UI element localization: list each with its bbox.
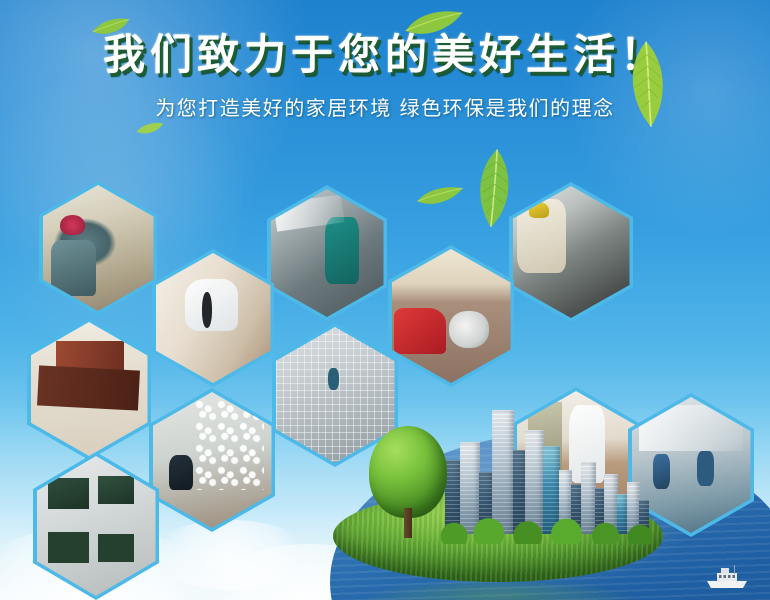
hex-photo-frame [156, 253, 271, 383]
leaf-left-small-icon [136, 120, 164, 138]
island-tree [369, 426, 447, 538]
tree-trunk [404, 508, 412, 538]
hex-photo-stair-cleaning[interactable] [152, 249, 274, 387]
boat-icon [704, 564, 750, 590]
photo-building-exterior [37, 456, 156, 596]
hex-photo-duct-cleaning[interactable] [267, 185, 387, 321]
photo-wood-railing-painting [31, 322, 148, 456]
hex-photo-building-exterior[interactable] [33, 452, 159, 600]
hex-photo-carpet-machine[interactable] [388, 245, 514, 387]
hex-photo-frame [43, 185, 154, 311]
island-bushes [437, 518, 653, 544]
promo-banner: 我们致力于您的美好生活！ 为您打造美好的家居环境 绿色环保是我们的理念 [0, 0, 770, 600]
eco-island-illustration [333, 390, 663, 600]
hex-photo-wood-railing-painting[interactable] [27, 318, 151, 460]
photo-kitchen-hood-cleaning [513, 186, 630, 318]
city-skyline [445, 392, 653, 534]
hex-photo-frame [37, 456, 156, 596]
page-title: 我们致力于您的美好生活！ [0, 34, 770, 76]
leaf-mid-small-icon [416, 184, 464, 208]
hex-photo-demolition-worker[interactable] [39, 181, 157, 315]
hex-photo-chandelier-cleaning[interactable] [149, 388, 275, 532]
hex-photo-frame [392, 249, 511, 383]
photo-stair-cleaning [156, 253, 271, 383]
photo-demolition-worker [43, 185, 154, 311]
hex-photo-kitchen-hood-cleaning[interactable] [509, 182, 633, 322]
photo-duct-cleaning [271, 189, 384, 317]
photo-carpet-machine [392, 249, 511, 383]
banner-text-block: 我们致力于您的美好生活！ 为您打造美好的家居环境 绿色环保是我们的理念 [0, 34, 770, 121]
photo-chandelier-cleaning [153, 392, 272, 528]
cloud-mid-left [150, 520, 310, 590]
tree-crown [369, 426, 447, 518]
page-subtitle: 为您打造美好的家居环境 绿色环保是我们的理念 [0, 92, 770, 121]
hex-photo-frame [513, 186, 630, 318]
island-reflection [359, 582, 639, 600]
hex-photo-frame [153, 392, 272, 528]
hex-photo-frame [31, 322, 148, 456]
hex-photo-frame [271, 189, 384, 317]
